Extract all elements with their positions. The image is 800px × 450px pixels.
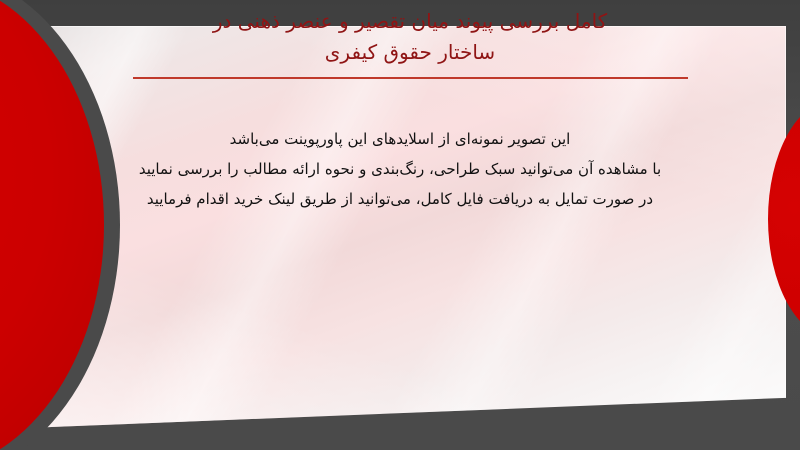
slide-title-line-1: کامل بررسی پیوند میان تقصیر و عنصر ذهنی … bbox=[120, 6, 700, 37]
slide-content-panel bbox=[26, 26, 786, 428]
presentation-slide: کامل بررسی پیوند میان تقصیر و عنصر ذهنی … bbox=[0, 0, 800, 450]
slide-body-text: این تصویر نمونه‌ای از اسلایدهای این پاور… bbox=[60, 124, 740, 214]
body-line-1: این تصویر نمونه‌ای از اسلایدهای این پاور… bbox=[60, 124, 740, 154]
body-line-2: با مشاهده آن می‌توانید سبک طراحی، رنگ‌بن… bbox=[60, 154, 740, 184]
title-underline-rule bbox=[133, 77, 688, 79]
slide-title-line-2: ساختار حقوق کیفری bbox=[120, 37, 700, 68]
slide-title: کامل بررسی پیوند میان تقصیر و عنصر ذهنی … bbox=[120, 6, 700, 68]
body-line-3: در صورت تمایل به دریافت فایل کامل، می‌تو… bbox=[60, 184, 740, 214]
